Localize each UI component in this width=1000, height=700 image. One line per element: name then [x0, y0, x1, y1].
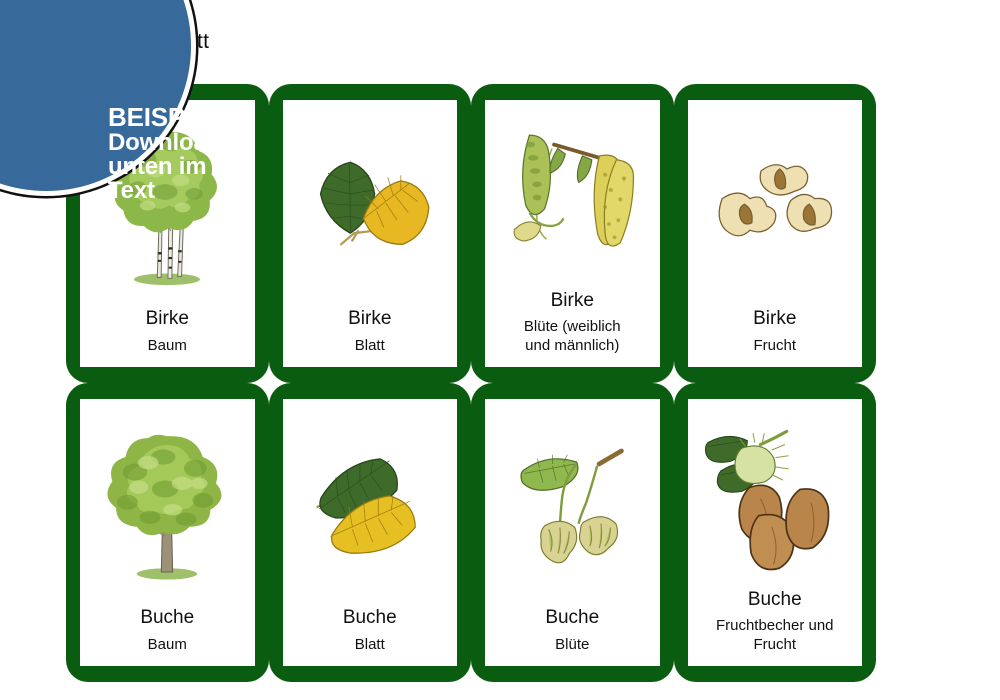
badge-line-text: Text [108, 179, 268, 203]
sample-watermark-text: BEISPIEL Download unten im Text [108, 104, 268, 204]
card-species-label: Buche [545, 607, 599, 629]
badge-line-download: Download [108, 131, 268, 155]
beech-leaf-icon [289, 405, 452, 607]
card-part-label: Baum [146, 337, 189, 357]
card-species-label: Birke [146, 308, 189, 330]
card-face: Buche Blatt [283, 399, 458, 666]
card-species-label: Buche [343, 607, 397, 629]
card-species-label: Birke [348, 308, 391, 330]
card-part-label: Blatt [353, 636, 387, 656]
card-face: Buche Fruchtbecher und Frucht [688, 399, 863, 666]
card-part-label: Baum [146, 636, 189, 656]
badge-line-beispiel: BEISPIEL [108, 104, 268, 131]
card-species-label: Buche [140, 607, 194, 629]
card-face: Birke Blüte (weiblich und männlich) [485, 100, 660, 367]
card-part-label: Blatt [353, 337, 387, 357]
birch-catkin-icon [491, 106, 654, 290]
card-part-label: Fruchtbecher und Frucht [714, 617, 836, 656]
birch-leaf-icon [289, 106, 452, 308]
birch-seed-icon [694, 106, 857, 308]
card-part-label: Frucht [751, 337, 798, 357]
card-birke-bluete[interactable]: Birke Blüte (weiblich und männlich) [471, 84, 674, 383]
beech-flower-icon [491, 405, 654, 607]
card-species-label: Birke [551, 290, 594, 312]
card-face: Birke Frucht [688, 100, 863, 367]
beech-nut-icon [694, 405, 857, 589]
card-face: Buche Baum [80, 399, 255, 666]
card-face: Birke Blatt [283, 100, 458, 367]
card-part-label: Blüte (weiblich und männlich) [522, 318, 623, 357]
card-species-label: Birke [753, 308, 796, 330]
card-part-label: Blüte [553, 636, 591, 656]
card-birke-frucht[interactable]: Birke Frucht [674, 84, 877, 383]
card-species-label: Buche [748, 589, 802, 611]
card-face: Buche Blüte [485, 399, 660, 666]
card-buche-baum[interactable]: Buche Baum [66, 383, 269, 682]
card-buche-blatt[interactable]: Buche Blatt [269, 383, 472, 682]
card-buche-bluete[interactable]: Buche Blüte [471, 383, 674, 682]
beech-tree-icon [86, 405, 249, 607]
card-buche-frucht[interactable]: Buche Fruchtbecher und Frucht [674, 383, 877, 682]
card-birke-blatt[interactable]: Birke Blatt [269, 84, 472, 383]
badge-line-unten-im: unten im [108, 155, 268, 179]
